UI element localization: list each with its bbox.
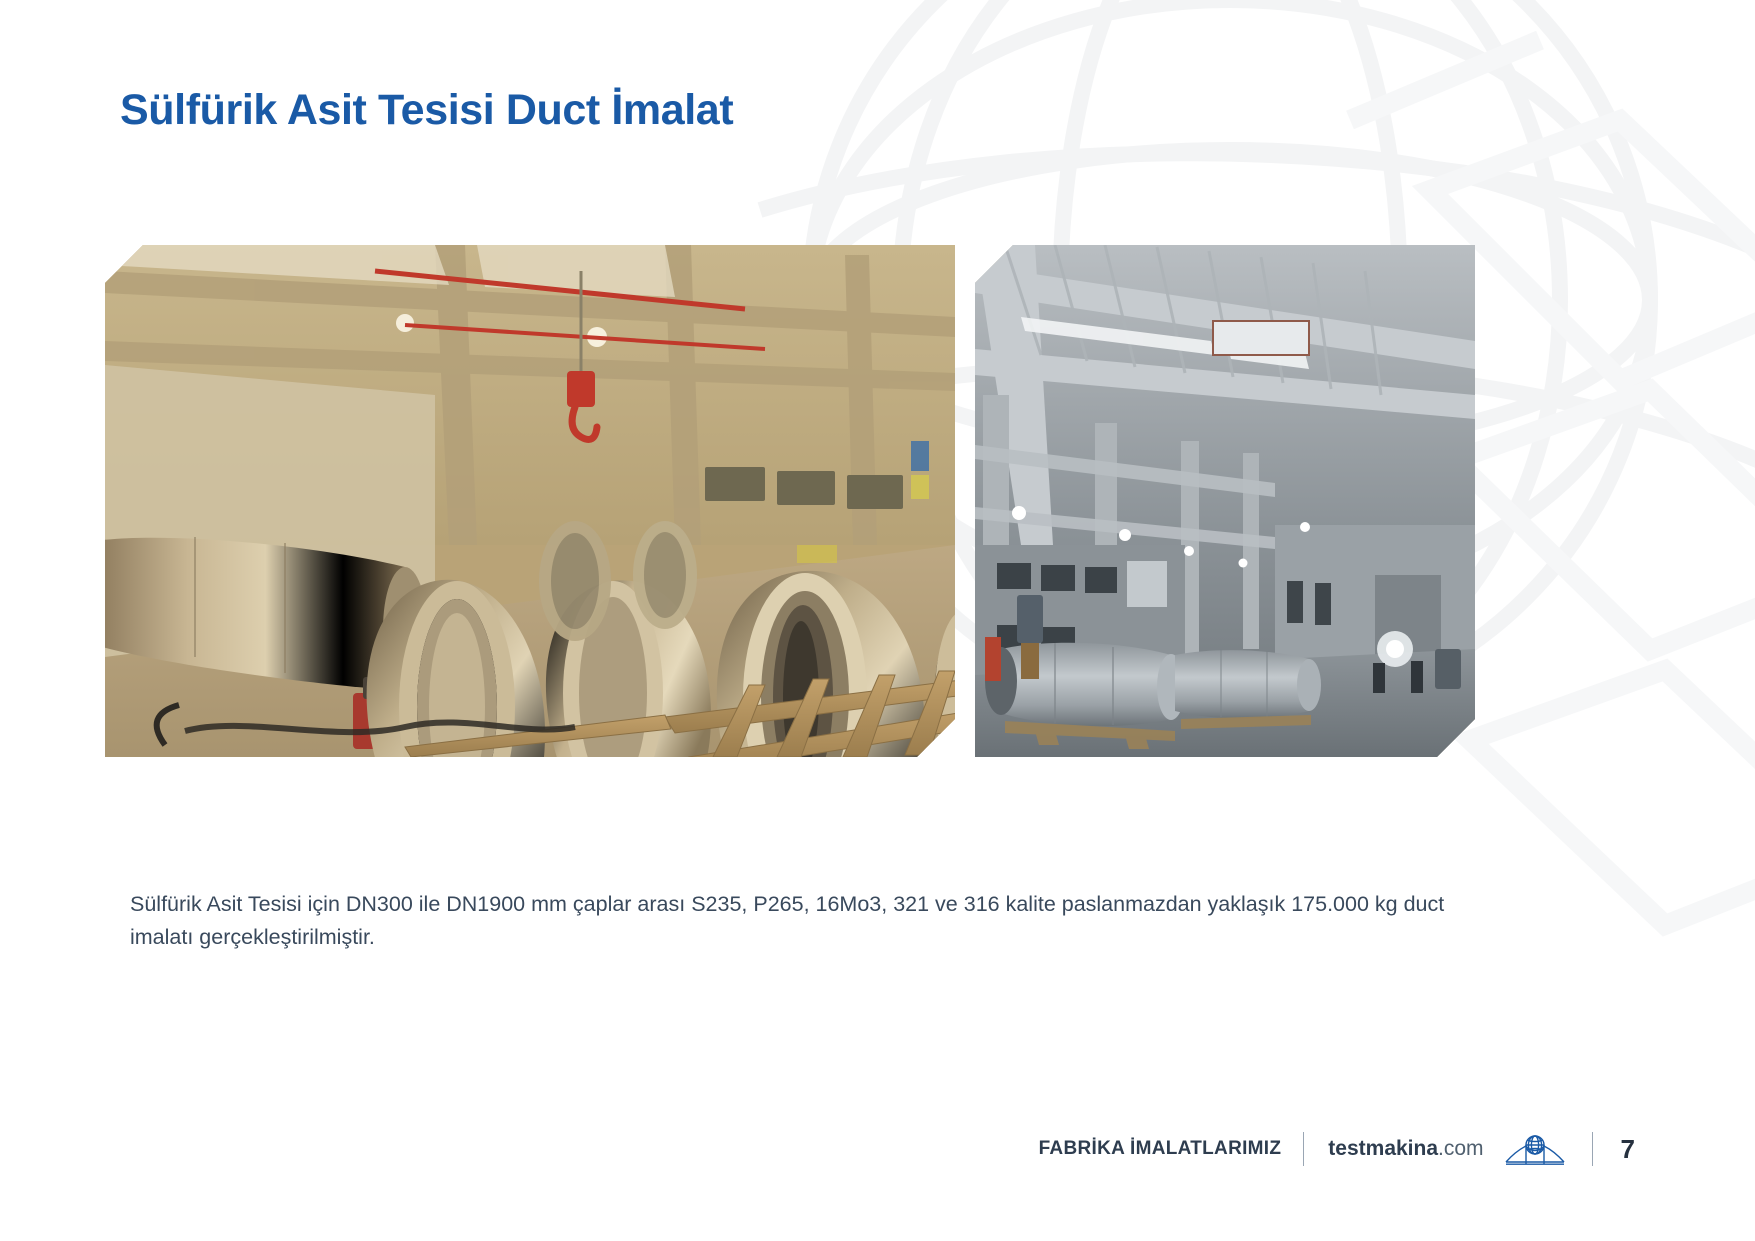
footer-section-label: FABRİKA İMALATLARIMIZ (1039, 1138, 1304, 1160)
page-footer: FABRİKA İMALATLARIMIZ testmakina.com (1039, 1131, 1635, 1167)
photo-gallery (105, 245, 1475, 757)
footer-brand-tld: .com (1438, 1137, 1484, 1160)
page-title: Sülfürik Asit Tesisi Duct İmalat (120, 86, 733, 135)
footer-brand[interactable]: testmakina.com (1304, 1137, 1503, 1161)
page-number: 7 (1593, 1134, 1635, 1165)
duct-sections-workshop-photo[interactable] (105, 245, 955, 757)
duct-pipes-factory-hall-photo[interactable] (975, 245, 1475, 757)
footer-brand-name: testmakina (1328, 1137, 1438, 1160)
testmakina-globe-bridge-logo (1504, 1131, 1592, 1167)
slide-page: Sülfürik Asit Tesisi Duct İmalat (0, 0, 1755, 1241)
photo-caption: Sülfürik Asit Tesisi için DN300 ile DN19… (130, 888, 1450, 954)
